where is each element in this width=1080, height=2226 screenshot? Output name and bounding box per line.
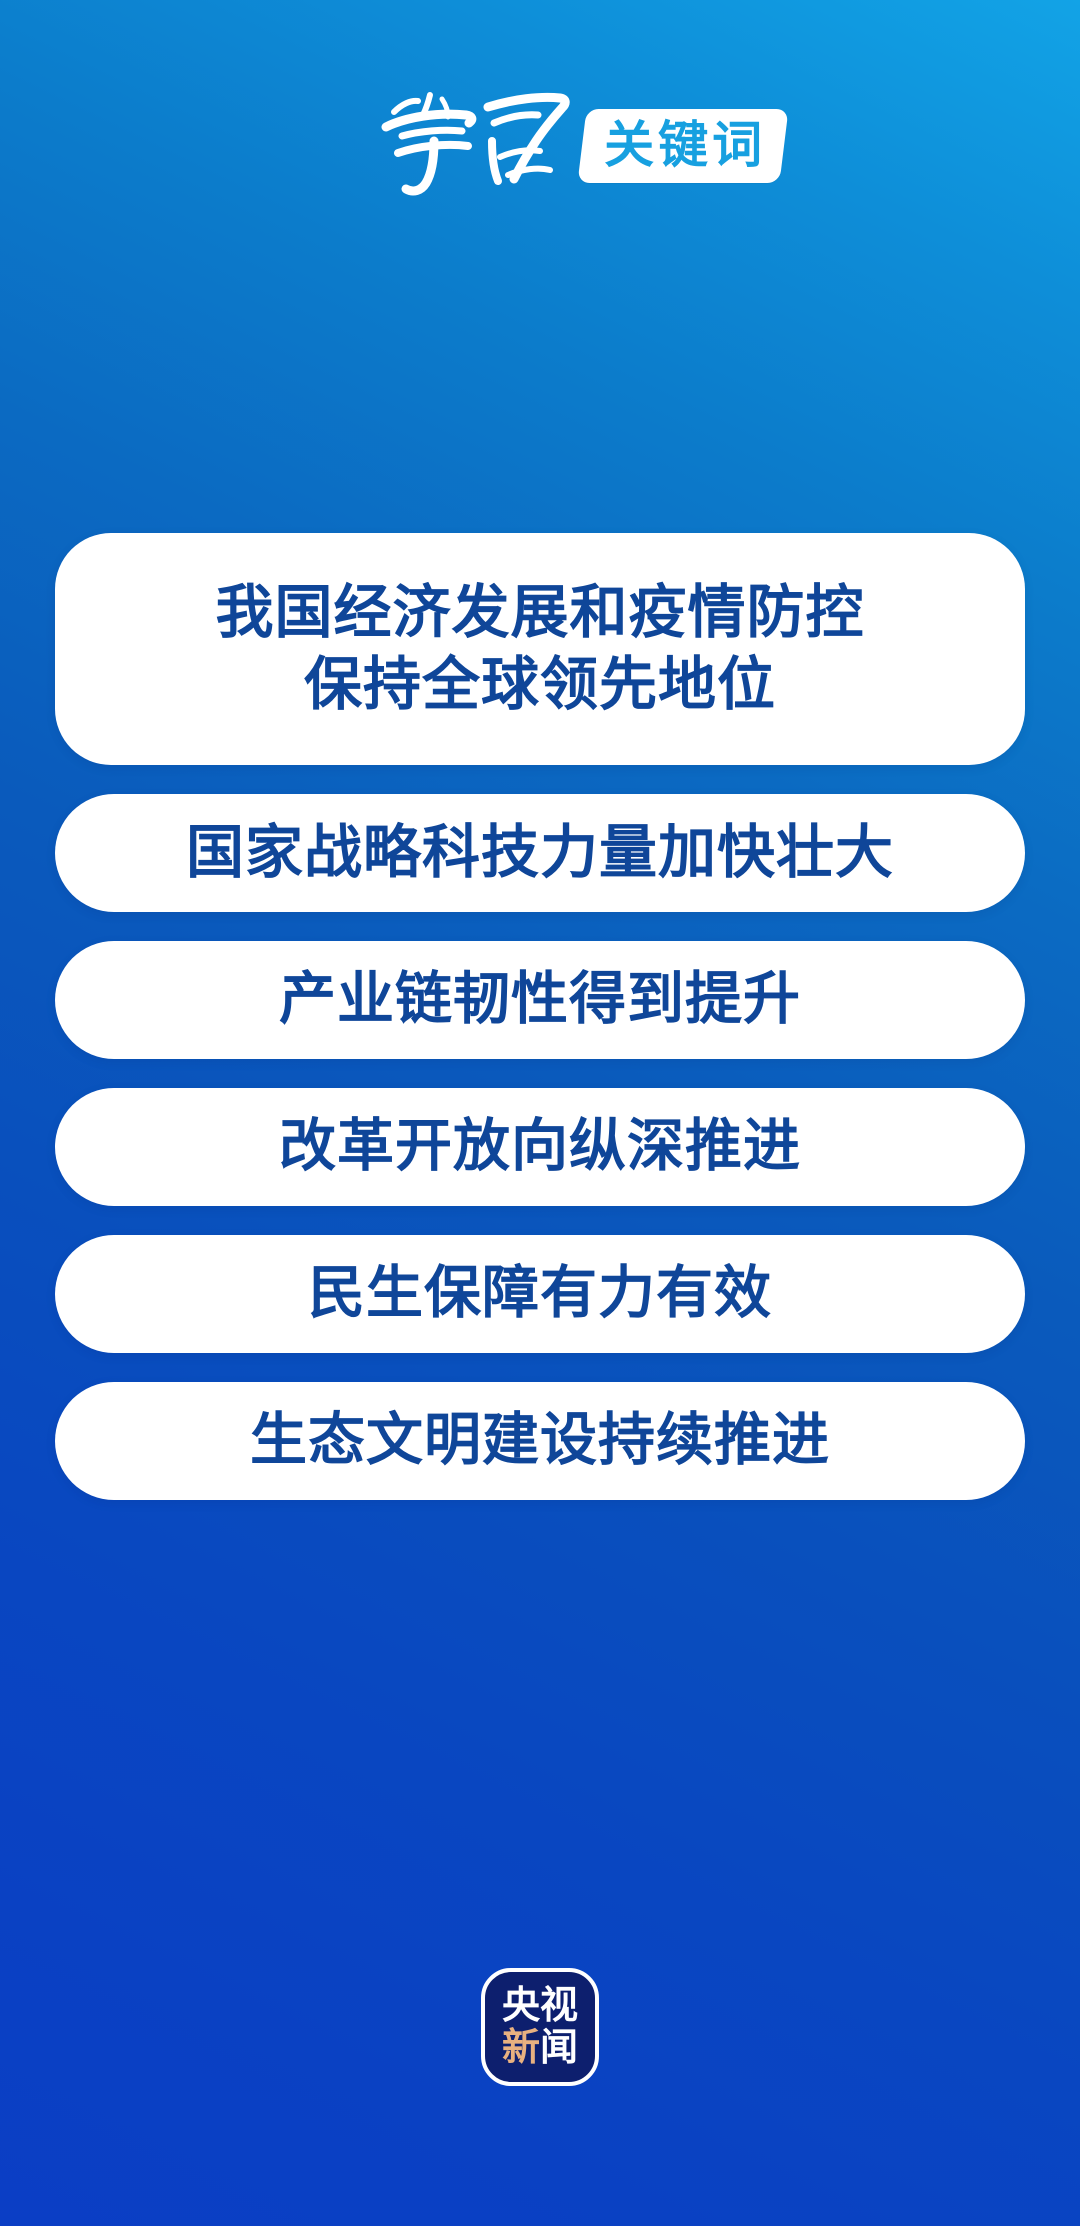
cctv-logo-row-bottom: 新 闻 [502, 2029, 578, 2067]
footer: 央视 新 闻 [0, 1968, 1080, 2086]
cctv-logo-top-label: 央视 [502, 1987, 578, 2025]
header: 关键词 [0, 78, 1080, 198]
card-industry-chain[interactable]: 产业链韧性得到提升 [55, 941, 1025, 1059]
card-line: 我国经济发展和疫情防控 [215, 583, 864, 643]
card-eco-civilization[interactable]: 生态文明建设持续推进 [55, 1382, 1025, 1500]
brand-logo: 关键词 [368, 79, 784, 197]
keyword-card-list: 我国经济发展和疫情防控 保持全球领先地位 国家战略科技力量加快壮大 产业链韧性得… [55, 533, 1025, 1529]
cctv-news-logo[interactable]: 央视 新 闻 [481, 1968, 599, 2086]
card-strategic-sci-tech[interactable]: 国家战略科技力量加快壮大 [55, 794, 1025, 912]
card-line: 改革开放向纵深推进 [279, 1117, 801, 1176]
xuexi-calligraphy-icon [368, 79, 598, 197]
card-line: 民生保障有力有效 [308, 1264, 772, 1323]
poster-canvas: 关键词 我国经济发展和疫情防控 保持全球领先地位 国家战略科技力量加快壮大 产业… [0, 0, 1080, 2226]
card-line: 生态文明建设持续推进 [250, 1411, 830, 1470]
card-line: 产业链韧性得到提升 [279, 970, 801, 1029]
card-reform-opening[interactable]: 改革开放向纵深推进 [55, 1088, 1025, 1206]
card-line: 保持全球领先地位 [304, 655, 776, 715]
card-line: 国家战略科技力量加快壮大 [186, 823, 894, 883]
cctv-logo-bottom-first: 新 [502, 2029, 540, 2067]
keyword-badge-label: 关键词 [604, 120, 766, 170]
cctv-logo-bottom-second: 闻 [540, 2029, 578, 2067]
cctv-logo-row-top: 央视 [502, 1987, 578, 2025]
card-economy-epidemic[interactable]: 我国经济发展和疫情防控 保持全球领先地位 [55, 533, 1025, 765]
card-livelihood[interactable]: 民生保障有力有效 [55, 1235, 1025, 1353]
keyword-badge: 关键词 [577, 109, 788, 183]
